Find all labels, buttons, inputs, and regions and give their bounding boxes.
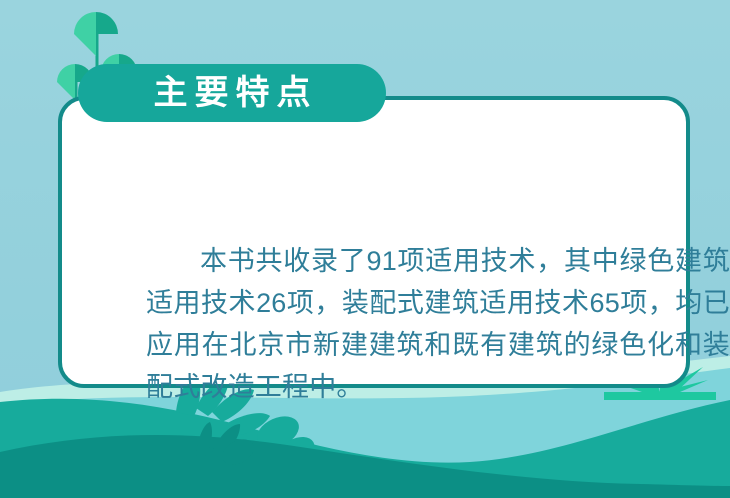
content-card: 本书共收录了91项适用技术，其中绿色建筑适用技术26项，装配式建筑适用技术65项… [58,96,690,388]
card-body-text: 本书共收录了91项适用技术，其中绿色建筑适用技术26项，装配式建筑适用技术65项… [146,240,730,408]
section-title-badge: 主要特点 [78,64,386,122]
section-title-text: 主要特点 [147,76,318,110]
poster-canvas: 本书共收录了91项适用技术，其中绿色建筑适用技术26项，装配式建筑适用技术65项… [0,0,730,498]
